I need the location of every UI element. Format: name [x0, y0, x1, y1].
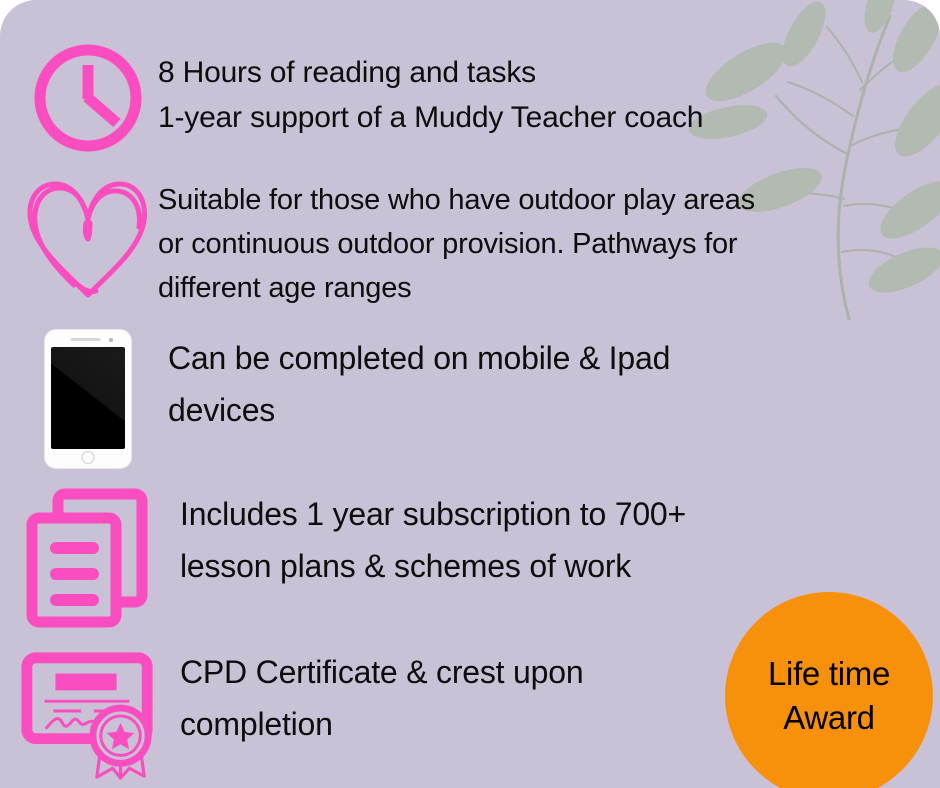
lifetime-award-badge: Life time Award: [725, 592, 933, 788]
feature-icon-cell: [18, 640, 158, 786]
tablet-home-button-icon: [82, 451, 95, 464]
promo-feature-card: 8 Hours of reading and tasks 1-year supp…: [0, 0, 940, 788]
feature-row-suitable: Suitable for those who have outdoor play…: [18, 172, 910, 310]
clock-icon: [29, 39, 147, 157]
feature-icon-cell: [18, 172, 158, 304]
documents-icon: [22, 486, 154, 628]
award-badge-line: Life time: [768, 652, 890, 696]
award-badge-line: Award: [783, 696, 874, 740]
feature-text-lessons: Includes 1 year subscription to 700+ les…: [158, 482, 910, 592]
tablet-screen: [51, 347, 125, 449]
feature-row-hours: 8 Hours of reading and tasks 1-year supp…: [18, 44, 910, 152]
feature-line: 8 Hours of reading and tasks: [158, 50, 910, 95]
feature-line: or continuous outdoor provision. Pathway…: [158, 222, 910, 266]
heart-icon: [22, 173, 154, 303]
feature-line: Can be completed on mobile & Ipad: [168, 332, 910, 384]
feature-line: 1-year support of a Muddy Teacher coach: [158, 95, 910, 140]
feature-text-suitable: Suitable for those who have outdoor play…: [158, 172, 910, 310]
feature-line: different age ranges: [158, 266, 910, 310]
tablet-icon: [45, 330, 131, 468]
certificate-icon: [18, 645, 158, 781]
tablet-camera-icon: [109, 338, 113, 342]
feature-row-devices: Can be completed on mobile & Ipad device…: [18, 326, 910, 472]
tablet-speaker-icon: [71, 338, 101, 341]
feature-line: Suitable for those who have outdoor play…: [158, 178, 910, 222]
feature-line: Includes 1 year subscription to 700+: [180, 488, 910, 540]
feature-line: lesson plans & schemes of work: [180, 540, 910, 592]
feature-icon-cell: [18, 326, 158, 472]
feature-text-devices: Can be completed on mobile & Ipad device…: [158, 326, 910, 436]
feature-icon-cell: [18, 44, 158, 152]
feature-line: devices: [168, 384, 910, 436]
feature-text-hours: 8 Hours of reading and tasks 1-year supp…: [158, 44, 910, 140]
feature-icon-cell: [18, 482, 158, 632]
